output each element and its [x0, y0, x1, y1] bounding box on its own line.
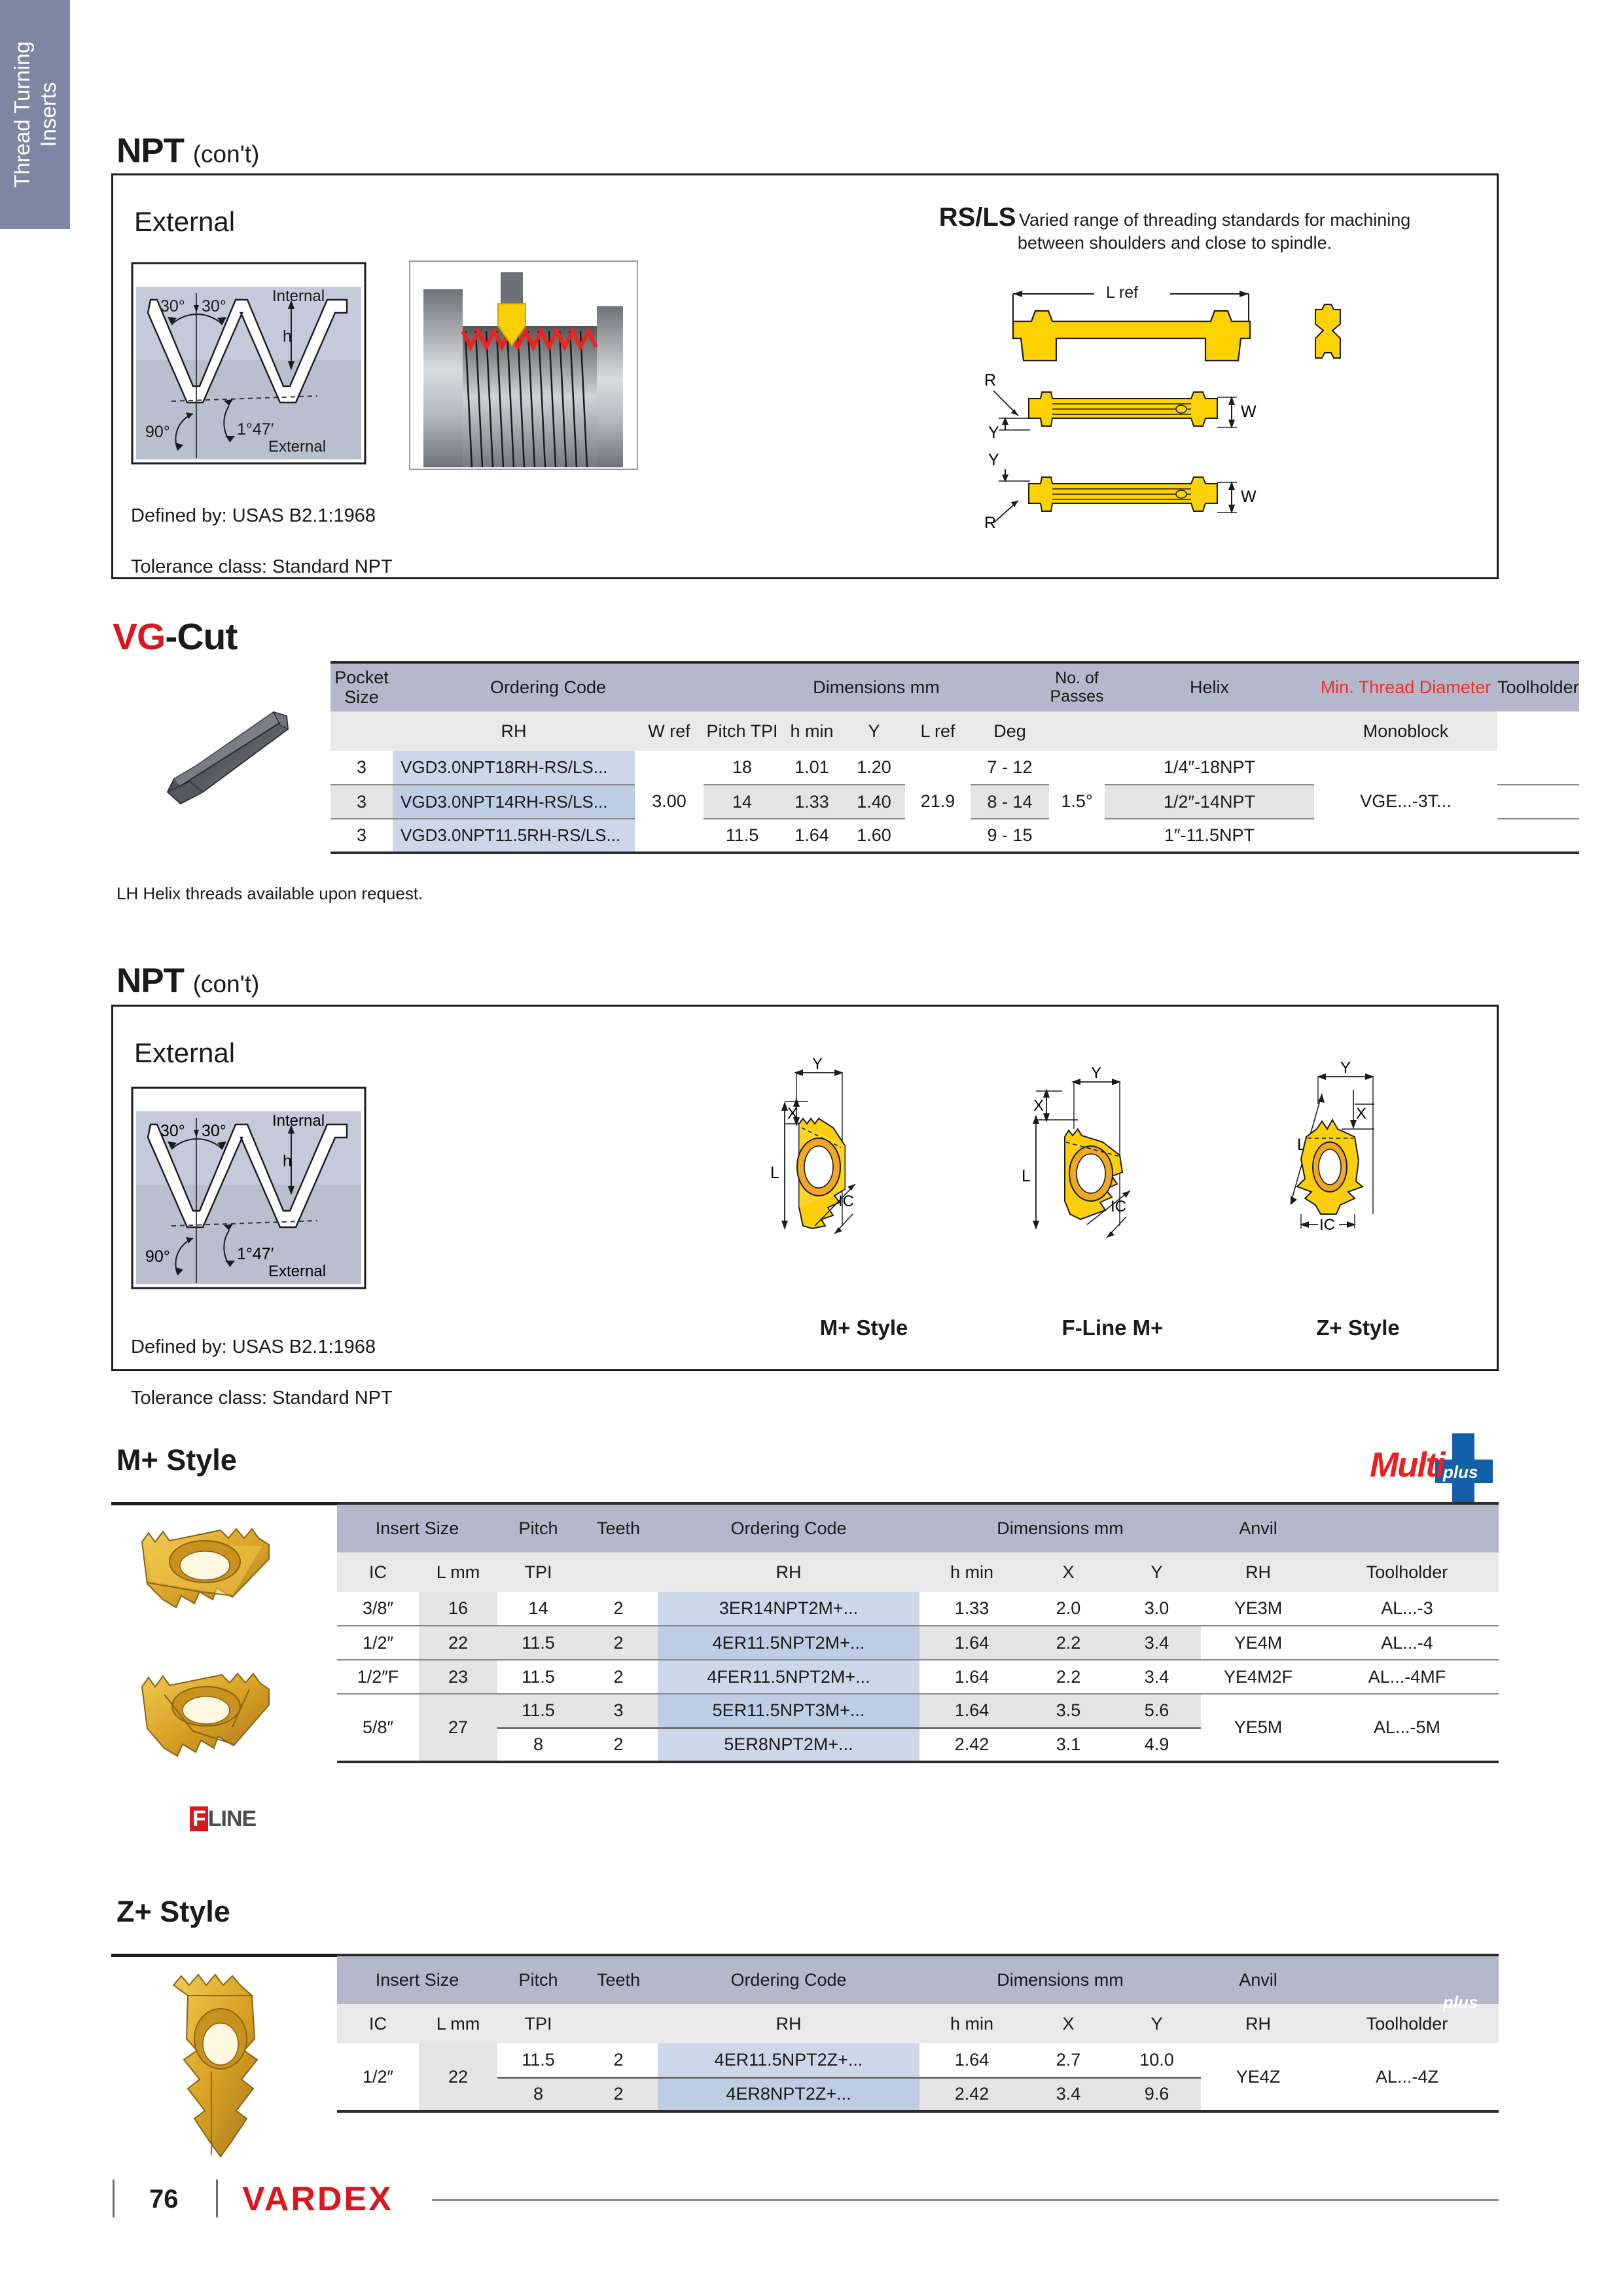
l-label: L	[770, 1164, 779, 1182]
h-label: h	[283, 327, 292, 346]
mplus-cell-lmm: 22	[419, 1626, 497, 1660]
vgcut-cell-hmin: 1.01	[781, 751, 843, 785]
mplus-th-y: Y	[1113, 1552, 1201, 1592]
zplus-cell-teeth: 2	[579, 2043, 658, 2077]
mplus-cell-y: 5.6	[1113, 1694, 1201, 1728]
vgcut-cell-minthread: 1/2″-14NPT	[1105, 785, 1314, 819]
angle-taper: 1°47′	[237, 420, 274, 439]
caption-zplus-style: Z+ Style	[1250, 1316, 1466, 1340]
mplus-table-wrap: Insert Size Pitch Teeth Ordering Code Di…	[337, 1502, 1499, 1763]
threading-operation-image-1	[409, 260, 638, 473]
page-number: 76	[149, 2185, 179, 2214]
mplus-cell-anvil: YE3M	[1201, 1592, 1315, 1626]
y-label: Y	[1091, 1064, 1101, 1082]
mplus-cell-toolholder: AL...-4MF	[1315, 1660, 1499, 1694]
zplus-th-hmin: h min	[919, 2004, 1024, 2043]
mplus-cell-toolholder: AL...-3	[1315, 1592, 1499, 1626]
vgcut-cell-passes: 9 - 15	[971, 819, 1049, 853]
zplus-th-y: Y	[1113, 2004, 1201, 2043]
x-label: X	[787, 1105, 798, 1122]
mplus-cell-x: 2.0	[1024, 1592, 1113, 1626]
mplus-cell-tpi: 11.5	[497, 1626, 579, 1660]
angle-30-right: 30°	[202, 297, 226, 315]
y-label: Y	[1340, 1059, 1351, 1077]
vgcut-th-ordering-code: Ordering Code	[393, 662, 704, 711]
zplus-cell-code[interactable]: 4ER8NPT2Z+...	[658, 2077, 919, 2111]
section2-tolerance-class: Tolerance class: Standard NPT	[131, 1386, 393, 1411]
mplus-th-blank2	[579, 1552, 658, 1592]
rsls-title: RS/LS	[939, 203, 1016, 232]
zplus-cell-y: 10.0	[1113, 2043, 1201, 2077]
ic-label: IC	[1319, 1216, 1335, 1234]
section1-tolerance-class: Tolerance class: Standard NPT	[131, 554, 393, 580]
mplus-th-anvil: Anvil	[1201, 1503, 1315, 1552]
vgcut-cell-y: 1.60	[843, 819, 905, 853]
zplus-th-tpi: TPI	[497, 2004, 579, 2043]
zplus-th-anvil: Anvil	[1201, 1955, 1315, 2004]
zplus-table: Insert Size Pitch Teeth Ordering Code Di…	[337, 1954, 1499, 2113]
zplus-th-anvil-rh: RH	[1201, 2004, 1315, 2043]
zplus-insert-image	[147, 1967, 285, 2166]
mplus-th-hmin: h min	[919, 1552, 1024, 1592]
mplus-cell-tpi: 11.5	[497, 1694, 579, 1728]
mplus-row-4[interactable]: 5/8″ 27 11.5 3 5ER11.5NPT3M+... 1.64 3.5…	[337, 1694, 1499, 1728]
mplus-cell-teeth: 3	[579, 1694, 658, 1728]
insert-drawing-zplus: Y X L IC	[1250, 1050, 1466, 1309]
section2-defined-by: Defined by: USAS B2.1:1968	[131, 1335, 393, 1360]
zplus-th-rh: RH	[658, 2004, 919, 2043]
fline-logo: FLINE	[190, 1806, 256, 1832]
mplus-insert-image-bottom	[134, 1666, 285, 1793]
vgcut-header-row-top: PocketSize Ordering Code Dimensions mm N…	[330, 662, 1579, 711]
mplus-cell-y: 3.0	[1113, 1592, 1201, 1626]
w-label-top: W	[1241, 403, 1257, 421]
vgcut-cell-pitch: 14	[704, 785, 781, 819]
mplus-cell-x: 3.1	[1024, 1728, 1113, 1762]
vgcut-cell-pitch: 18	[704, 751, 781, 785]
section1-panel-title: External	[134, 206, 235, 238]
ic-label: IC	[838, 1193, 854, 1210]
vgcut-insert-image	[151, 694, 301, 828]
mplus-th-x: X	[1024, 1552, 1113, 1592]
vgcut-th-monoblock: Monoblock	[1314, 711, 1497, 751]
x-label: X	[1356, 1105, 1366, 1122]
angle-taper: 1°47′	[237, 1245, 274, 1263]
vgcut-cell-passes: 8 - 14	[971, 785, 1049, 819]
l-label: L	[1022, 1167, 1031, 1185]
section1-standard-info: Defined by: USAS B2.1:1968 Tolerance cla…	[131, 478, 393, 606]
caption-mplus-style: M+ Style	[756, 1316, 972, 1340]
external-label: External	[268, 1263, 326, 1280]
zplus-cell-toolholder: AL...-4Z	[1315, 2043, 1499, 2111]
vgcut-th-passes: No. ofPasses	[1049, 662, 1105, 711]
section2-heading: NPT (con't)	[116, 961, 259, 1001]
zplus-th-ic: IC	[337, 2004, 419, 2043]
angle-30-left: 30°	[160, 297, 185, 315]
mplus-th-ic: IC	[337, 1552, 419, 1592]
vgcut-cell-wref: 3.00	[635, 751, 704, 853]
zplus-cell-ic: 1/2″	[337, 2043, 419, 2111]
zplus-th-insert-size: Insert Size	[337, 1955, 497, 2004]
zplus-th-blank2	[579, 2004, 658, 2043]
section2-heading-main: NPT	[116, 961, 184, 1000]
vgcut-th-pitch-tpi: Pitch TPI	[704, 711, 781, 751]
multiplus-plus-word: plus	[1443, 1462, 1478, 1482]
vgcut-cell-y: 1.20	[843, 751, 905, 785]
mplus-th-rh: RH	[658, 1552, 919, 1592]
mplus-cell-teeth: 2	[579, 1660, 658, 1694]
zplus-row-1[interactable]: 1/2″ 22 11.5 2 4ER11.5NPT2Z+... 1.64 2.7…	[337, 2043, 1499, 2077]
zplus-cell-tpi: 8	[497, 2077, 579, 2111]
insert-drawing-mplus: Y X L IC	[756, 1050, 972, 1309]
vgcut-header-row-sub: RH W ref Pitch TPI h min Y L ref Deg Mon…	[330, 711, 1579, 751]
zplus-cell-teeth: 2	[579, 2077, 658, 2111]
sidebar-tab-line2: Inserts	[36, 82, 60, 147]
angle-90: 90°	[145, 1247, 170, 1266]
mplus-cell-code[interactable]: 3ER14NPT2M+...	[658, 1592, 919, 1626]
mplus-cell-toolholder: AL...-4	[1315, 1626, 1499, 1660]
sidebar-tab-label: Thread Turning Inserts	[9, 7, 62, 223]
zplus-th-ordering-code: Ordering Code	[658, 1955, 919, 2004]
mplus-cell-lmm: 16	[419, 1592, 497, 1626]
vgcut-cell-helix: 1.5°	[1049, 751, 1105, 853]
mplus-cell-x: 2.2	[1024, 1660, 1113, 1694]
vgcut-cell-code[interactable]: VGD3.0NPT18RH-RS/LS...	[393, 751, 635, 785]
vgcut-title-vg: VG	[113, 616, 165, 658]
vgcut-cell-y: 1.40	[843, 785, 905, 819]
w-label-bottom: W	[1241, 488, 1257, 506]
section1-heading-main: NPT	[116, 132, 184, 170]
mplus-th-pitch: Pitch	[497, 1503, 579, 1552]
zplus-header-row-sub: IC L mm TPI RH h min X Y RH Toolholder	[337, 2004, 1499, 2043]
section1-defined-by: Defined by: USAS B2.1:1968	[131, 503, 393, 529]
internal-label: Internal	[272, 1112, 325, 1130]
vgcut-cell-code[interactable]: VGD3.0NPT14RH-RS/LS...	[393, 785, 635, 819]
footer-rule	[432, 2199, 1499, 2201]
mplus-cell-code[interactable]: 4ER11.5NPT2M+...	[658, 1626, 919, 1660]
vgcut-th-blank3	[1105, 711, 1314, 751]
mplus-cell-toolholder: AL...-5M	[1315, 1694, 1499, 1762]
vgcut-cell-toolholder: VGE...-3T...	[1314, 751, 1497, 853]
mplus-cell-anvil: YE4M	[1201, 1626, 1315, 1660]
mplus-cell-y: 3.4	[1113, 1626, 1201, 1660]
x-label: X	[1033, 1097, 1044, 1115]
r-label-top: R	[984, 371, 996, 389]
mplus-cell-ic: 3/8″	[337, 1592, 419, 1626]
mplus-row-1[interactable]: 3/8″ 16 14 2 3ER14NPT2M+... 1.33 2.0 3.0…	[337, 1592, 1499, 1626]
mplus-cell-hmin: 1.64	[919, 1626, 1024, 1660]
mplus-cell-ic: 1/2″	[337, 1626, 419, 1660]
vgcut-cell-lref: 21.9	[905, 751, 971, 853]
angle-90: 90°	[145, 423, 170, 441]
vgcut-cell-pocket: 3	[330, 785, 393, 819]
internal-label: Internal	[272, 287, 325, 305]
vgcut-th-toolholder: Toolholder	[1497, 662, 1579, 711]
section1-heading: NPT (con't)	[116, 131, 259, 171]
mplus-cell-code[interactable]: 4FER11.5NPT2M+...	[658, 1660, 919, 1694]
vgcut-th-y: Y	[843, 711, 905, 751]
mplus-cell-x: 2.2	[1024, 1626, 1113, 1660]
vgcut-th-deg: Deg	[971, 711, 1049, 751]
zplus-cell-tpi: 11.5	[497, 2043, 579, 2077]
zplus-th-teeth: Teeth	[579, 1955, 658, 2004]
angle-30-right: 30°	[202, 1122, 226, 1140]
vgcut-th-rh: RH	[393, 711, 635, 751]
vgcut-cell-minthread: 1″-11.5NPT	[1105, 819, 1314, 853]
y-label-bottom: Y	[988, 451, 999, 469]
vgcut-th-min-thread-diameter: Min. Thread Diameter	[1314, 662, 1497, 711]
zplus-th-x: X	[1024, 2004, 1113, 2043]
mplus-cell-code[interactable]: 5ER8NPT2M+...	[658, 1728, 919, 1762]
vgcut-cell-code[interactable]: VGD3.0NPT11.5RH-RS/LS...	[393, 819, 635, 853]
vgcut-cell-pocket: 3	[330, 819, 393, 853]
vgcut-cell-hmin: 1.64	[781, 819, 843, 853]
zplus-cell-y: 9.6	[1113, 2077, 1201, 2111]
mplus-row-3[interactable]: 1/2″F 23 11.5 2 4FER11.5NPT2M+... 1.64 2…	[337, 1660, 1499, 1694]
zplus-cell-x: 3.4	[1024, 2077, 1113, 2111]
zplus-cell-x: 2.7	[1024, 2043, 1113, 2077]
vgcut-th-blank2	[1049, 711, 1105, 751]
mplus-table: Insert Size Pitch Teeth Ordering Code Di…	[337, 1502, 1499, 1763]
vardex-logo: VARDEX	[242, 2179, 393, 2219]
mplus-cell-teeth: 2	[579, 1592, 658, 1626]
vgcut-title-cut: -Cut	[165, 616, 237, 658]
h-label: h	[283, 1152, 292, 1170]
mplus-th-toolholder: Toolholder	[1315, 1552, 1499, 1592]
mplus-cell-ic: 5/8″	[337, 1694, 419, 1762]
mplus-cell-hmin: 1.64	[919, 1660, 1024, 1694]
angle-30-left: 30°	[160, 1122, 185, 1140]
sidebar-tab-line1: Thread Turning	[9, 41, 33, 188]
mplus-cell-lmm: 27	[419, 1694, 497, 1762]
vgcut-th-dimensions: Dimensions mm	[704, 662, 1049, 711]
mplus-th-lmm: L mm	[419, 1552, 497, 1592]
zplus-cell-hmin: 1.64	[919, 2043, 1024, 2077]
mplus-cell-teeth: 2	[579, 1728, 658, 1762]
multiplus-plus-word: plus	[1443, 1992, 1478, 2013]
mplus-insert-image-top	[134, 1518, 285, 1646]
zplus-cell-code[interactable]: 4ER11.5NPT2Z+...	[658, 2043, 919, 2077]
thread-profile-diagram-1: 30° 30° h Internal External 90° 1°47′	[131, 262, 366, 465]
mplus-th-tpi: TPI	[497, 1552, 579, 1592]
zplus-style-title: Z+ Style	[116, 1895, 230, 1929]
mplus-cell-anvil: YE5M	[1201, 1694, 1315, 1762]
vgcut-cell-pitch: 11.5	[704, 819, 781, 853]
mplus-style-title: M+ Style	[116, 1443, 237, 1477]
vgcut-th-pocket-size: PocketSize	[330, 662, 393, 711]
mplus-th-anvil-rh: RH	[1201, 1552, 1315, 1592]
vgcut-note: LH Helix threads available upon request.	[116, 884, 423, 904]
vgcut-table-wrap: PocketSize Ordering Code Dimensions mm N…	[330, 661, 1579, 854]
rsls-description: Varied range of threading standards for …	[1018, 210, 1410, 253]
mplus-cell-anvil: YE4M2F	[1201, 1660, 1315, 1694]
mplus-th-blank	[1315, 1503, 1499, 1552]
zplus-header-row-top: Insert Size Pitch Teeth Ordering Code Di…	[337, 1955, 1499, 2004]
section2-heading-suffix: (con't)	[193, 971, 260, 997]
mplus-cell-tpi: 14	[497, 1592, 579, 1626]
caption-fline-mplus: F-Line M+	[1005, 1316, 1221, 1340]
rsls-block: RS/LS Varied range of threading standard…	[916, 203, 1433, 255]
vgcut-cell-hmin: 1.33	[781, 785, 843, 819]
fline-logo-f: F	[190, 1806, 208, 1831]
section1-heading-suffix: (con't)	[193, 141, 260, 168]
mplus-th-ordering-code: Ordering Code	[658, 1503, 919, 1552]
multiplus-word: Multi	[1370, 1445, 1444, 1485]
mplus-cell-tpi: 8	[497, 1728, 579, 1762]
vgcut-th-wref: W ref	[635, 711, 704, 751]
section2-standard-info: Defined by: USAS B2.1:1968 Tolerance cla…	[131, 1309, 393, 1437]
mplus-cell-y: 3.4	[1113, 1660, 1201, 1694]
vgcut-th-blank1	[330, 711, 393, 751]
mplus-cell-hmin: 1.64	[919, 1694, 1024, 1728]
zplus-table-wrap: Insert Size Pitch Teeth Ordering Code Di…	[337, 1954, 1499, 2113]
multiplus-logo-mplus: Multi plus	[1370, 1433, 1494, 1512]
vgcut-row-1[interactable]: 3 VGD3.0NPT18RH-RS/LS... 3.00 18 1.01 1.…	[330, 751, 1579, 785]
mplus-cell-hmin: 1.33	[919, 1592, 1024, 1626]
mplus-row-2[interactable]: 1/2″ 22 11.5 2 4ER11.5NPT2M+... 1.64 2.2…	[337, 1626, 1499, 1660]
footer-divider-right	[216, 2179, 218, 2217]
zplus-cell-anvil: YE4Z	[1201, 2043, 1315, 2111]
zplus-cell-hmin: 2.42	[919, 2077, 1024, 2111]
vgcut-table: PocketSize Ordering Code Dimensions mm N…	[330, 661, 1579, 854]
vgcut-title: VG-Cut	[113, 615, 237, 658]
vgcut-cell-passes: 7 - 12	[971, 751, 1049, 785]
mplus-cell-teeth: 2	[579, 1626, 658, 1660]
zplus-cell-lmm: 22	[419, 2043, 497, 2111]
vgcut-th-lref: L ref	[905, 711, 971, 751]
mplus-cell-ic: 1/2″F	[337, 1660, 419, 1694]
vgcut-cell-minthread: 1/4″-18NPT	[1105, 751, 1314, 785]
mplus-cell-lmm: 23	[419, 1660, 497, 1694]
mplus-th-teeth: Teeth	[579, 1503, 658, 1552]
mplus-th-dimensions: Dimensions mm	[919, 1503, 1201, 1552]
fline-logo-rest: LINE	[208, 1806, 256, 1831]
ic-label: IC	[1111, 1198, 1126, 1215]
mplus-cell-code[interactable]: 5ER11.5NPT3M+...	[658, 1694, 919, 1728]
insert-drawing-fline-mplus: Y X L IC	[1005, 1050, 1221, 1309]
mplus-cell-y: 4.9	[1113, 1728, 1201, 1762]
vgcut-th-hmin: h min	[781, 711, 843, 751]
zplus-th-lmm: L mm	[419, 2004, 497, 2043]
mplus-cell-hmin: 2.42	[919, 1728, 1024, 1762]
zplus-th-pitch: Pitch	[497, 1955, 579, 2004]
zplus-th-dimensions: Dimensions mm	[919, 1955, 1201, 2004]
lref-label: L ref	[1106, 283, 1138, 302]
y-label-top: Y	[988, 423, 999, 442]
mplus-cell-tpi: 11.5	[497, 1660, 579, 1694]
mplus-th-insert-size: Insert Size	[337, 1503, 497, 1552]
mplus-header-row-sub: IC L mm TPI RH h min X Y RH Toolholder	[337, 1552, 1499, 1592]
mplus-header-row-top: Insert Size Pitch Teeth Ordering Code Di…	[337, 1503, 1499, 1552]
thread-profile-diagram-2: 30° 30° h Internal External 90° 1°47′	[131, 1086, 366, 1289]
rsls-insert-drawings: L ref W R	[975, 278, 1433, 556]
r-label-bottom: R	[984, 514, 996, 532]
vgcut-th-helix: Helix	[1105, 662, 1314, 711]
sidebar-section-tab: Thread Turning Inserts	[0, 0, 70, 229]
vgcut-cell-pocket: 3	[330, 751, 393, 785]
external-label: External	[268, 438, 326, 456]
footer-divider-left	[113, 2179, 115, 2217]
section2-panel-title: External	[134, 1037, 235, 1069]
mplus-cell-x: 3.5	[1024, 1694, 1113, 1728]
y-label: Y	[812, 1055, 823, 1073]
